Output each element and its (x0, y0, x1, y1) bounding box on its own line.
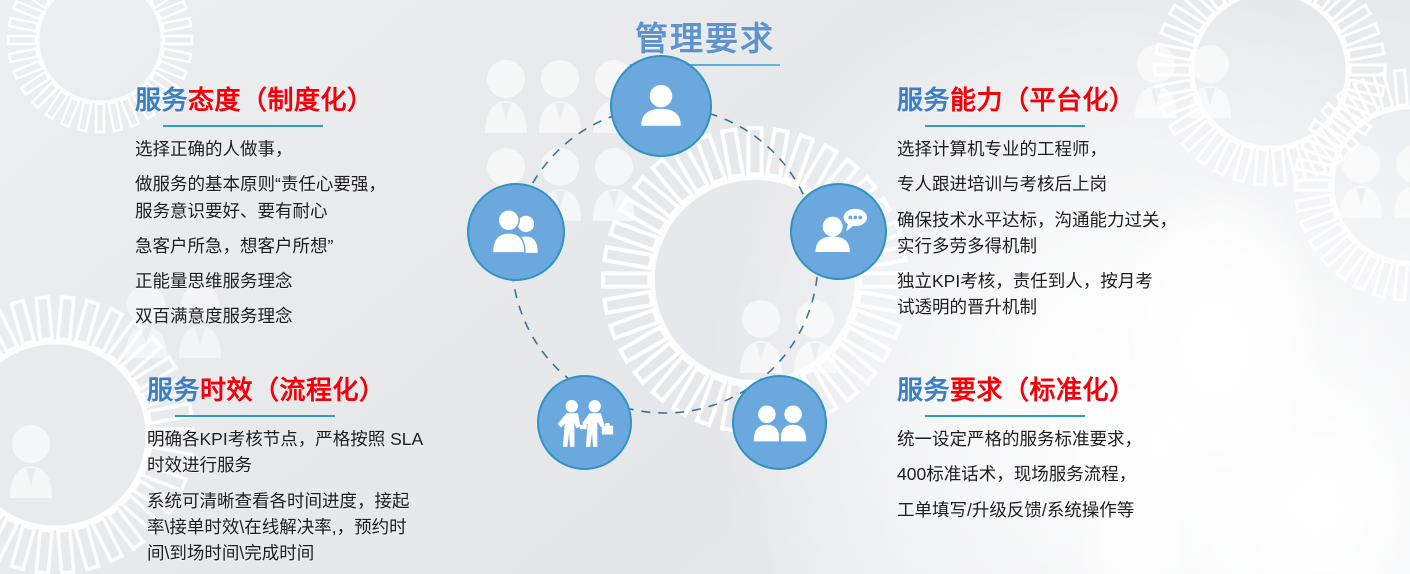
block-ability-body: 选择计算机专业的工程师， 专人跟进培训与考核后上岗 确保技术水平达标，沟通能力过… (897, 136, 1267, 321)
block-ability-header: 服务能力（平台化） (897, 80, 1267, 117)
node-two-people[interactable] (732, 375, 827, 470)
central-circle-diagram (455, 55, 875, 475)
handshake-briefcase-icon (555, 397, 615, 449)
main-title-text: 管理要求 (560, 12, 850, 60)
block-standard-underline (925, 415, 1085, 417)
block-timeliness-header-accent: 时效（流程化） (200, 375, 386, 405)
paragraph: 双百满意度服务理念 (135, 303, 515, 329)
paragraph: 选择正确的人做事， (135, 136, 515, 162)
node-handshake[interactable] (537, 375, 632, 470)
node-single-person[interactable] (610, 55, 712, 157)
block-service-timeliness: 服务时效（流程化） 明确各KPI考核节点，严格按照 SLA 时效进行服务 系统可… (147, 370, 517, 566)
paragraph: 工单填写/升级反馈/系统操作等 (897, 497, 1267, 523)
paragraph: 正能量思维服务理念 (135, 268, 515, 294)
paragraph: 系统可清晰查看各时间进度，接起 率\接单时效\在线解决率,，预约时 间\到场时间… (147, 488, 517, 567)
paragraph: 独立KPI考核，责任到人，按月考 试透明的晋升机制 (897, 268, 1267, 321)
block-attitude-header-accent: 态度（制度化） (188, 85, 374, 115)
block-standard-body: 统一设定严格的服务标准要求， 400标准话术，现场服务流程， 工单填写/升级反馈… (897, 426, 1267, 523)
block-attitude-body: 选择正确的人做事， 做服务的基本原则“责任心要强， 服务意识要好、要有耐心 急客… (135, 136, 515, 330)
block-timeliness-body: 明确各KPI考核节点，严格按照 SLA 时效进行服务 系统可清晰查看各时间进度，… (147, 426, 517, 566)
paragraph: 急客户所急，想客户所想” (135, 233, 515, 259)
block-service-attitude: 服务态度（制度化） 选择正确的人做事， 做服务的基本原则“责任心要强， 服务意识… (135, 80, 515, 330)
block-service-standard: 服务要求（标准化） 统一设定严格的服务标准要求， 400标准话术，现场服务流程，… (897, 370, 1267, 523)
block-ability-header-prefix: 服务 (897, 85, 950, 115)
block-attitude-header: 服务态度（制度化） (135, 80, 515, 117)
paragraph: 统一设定严格的服务标准要求， (897, 426, 1267, 452)
person-speech-bubble-icon (810, 206, 868, 258)
block-timeliness-header-prefix: 服务 (147, 375, 200, 405)
block-service-ability: 服务能力（平台化） 选择计算机专业的工程师， 专人跟进培训与考核后上岗 确保技术… (897, 80, 1267, 321)
block-standard-header: 服务要求（标准化） (897, 370, 1267, 407)
paragraph: 专人跟进培训与考核后上岗 (897, 171, 1267, 197)
block-timeliness-underline (175, 415, 335, 417)
block-ability-header-accent: 能力（平台化） (950, 85, 1136, 115)
paragraph: 确保技术水平达标，沟通能力过关， 实行多劳多得机制 (897, 207, 1267, 260)
paragraph: 明确各KPI考核节点，严格按照 SLA 时效进行服务 (147, 426, 517, 479)
node-person-speech[interactable] (790, 183, 887, 280)
block-standard-header-accent: 要求（标准化） (950, 375, 1136, 405)
block-attitude-underline (163, 125, 323, 127)
single-person-icon (634, 79, 688, 133)
block-timeliness-header: 服务时效（流程化） (147, 370, 517, 407)
block-attitude-header-prefix: 服务 (135, 85, 188, 115)
two-people-icon (752, 401, 808, 445)
paragraph: 做服务的基本原则“责任心要强， 服务意识要好、要有耐心 (135, 171, 515, 224)
paragraph: 选择计算机专业的工程师， (897, 136, 1267, 162)
paragraph: 400标准话术，现场服务流程， (897, 461, 1267, 487)
block-ability-underline (925, 125, 1085, 127)
block-standard-header-prefix: 服务 (897, 375, 950, 405)
